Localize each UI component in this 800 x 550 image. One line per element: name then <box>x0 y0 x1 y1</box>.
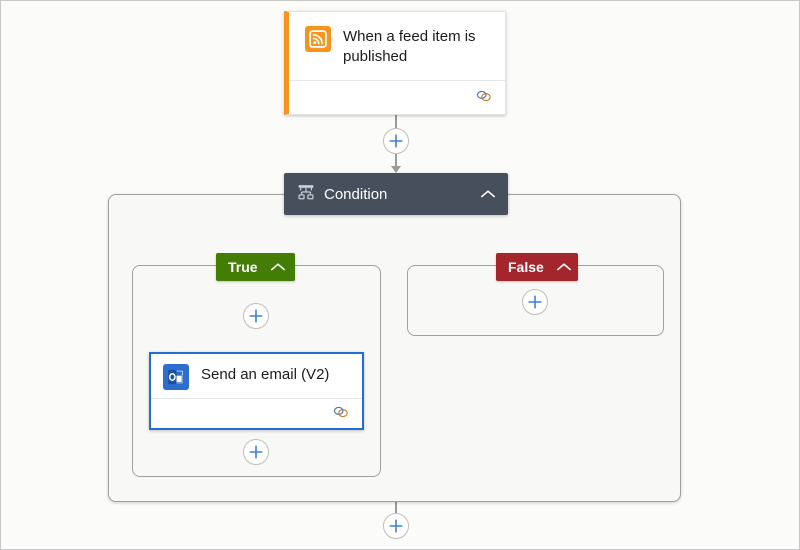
trigger-card-rss[interactable]: When a feed item is published <box>284 11 506 115</box>
trigger-card-body: When a feed item is published <box>289 12 505 80</box>
outlook-icon <box>163 364 189 390</box>
link-icon[interactable] <box>475 89 493 103</box>
trigger-card-footer <box>289 80 505 111</box>
branch-label-true[interactable]: True <box>216 253 295 281</box>
add-step-button-true-top[interactable] <box>243 303 269 329</box>
condition-branch-icon <box>297 183 315 206</box>
action-card-title: Send an email (V2) <box>201 364 329 385</box>
flow-designer-canvas: When a feed item is published <box>0 0 800 550</box>
add-step-button-false[interactable] <box>522 289 548 315</box>
branch-label-false-text: False <box>508 259 544 275</box>
branch-label-false[interactable]: False <box>496 253 578 281</box>
chevron-up-icon[interactable] <box>270 262 286 272</box>
condition-title: Condition <box>324 186 480 203</box>
add-step-button-after-trigger[interactable] <box>383 128 409 154</box>
action-card-body: Send an email (V2) <box>151 354 362 398</box>
trigger-card-title: When a feed item is published <box>343 26 491 68</box>
chevron-up-icon[interactable] <box>480 189 496 199</box>
add-step-button-after-condition[interactable] <box>383 513 409 539</box>
action-card-send-email[interactable]: Send an email (V2) <box>149 352 364 430</box>
action-card-footer <box>151 398 362 425</box>
rss-icon <box>305 26 331 52</box>
branch-label-true-text: True <box>228 259 258 275</box>
add-step-button-true-bottom[interactable] <box>243 439 269 465</box>
chevron-up-icon[interactable] <box>556 262 572 272</box>
link-icon[interactable] <box>332 405 350 419</box>
condition-card-header[interactable]: Condition <box>284 173 508 215</box>
